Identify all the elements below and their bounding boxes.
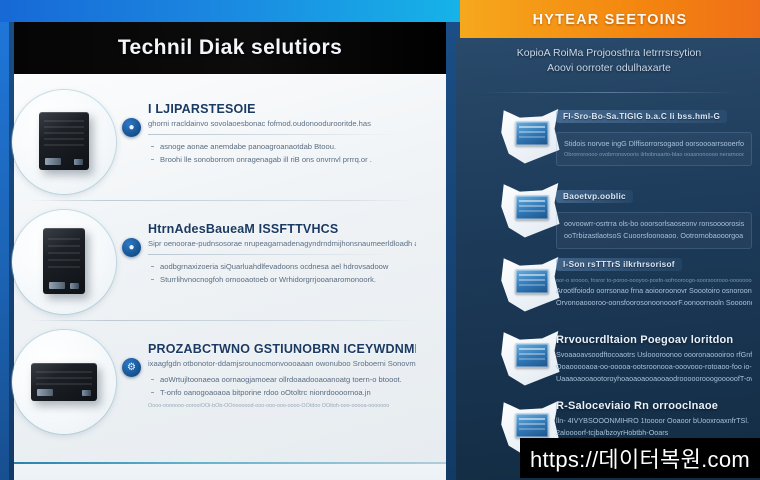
card-line: Orvonoaoooroo-oonsfoorosonoonooorF.oonoo… — [556, 298, 752, 309]
list-item[interactable]: Baoetvp.ooblic oovoowrr-osrtrra ols-bo o… — [556, 190, 752, 249]
card-line: oor-o sroooo, fosror to-poroo-oooyoo-pos… — [556, 277, 752, 285]
external-drive-wide-icon — [31, 363, 97, 401]
row-subtitle: ixaagfgdn otbonotor-ddamjsrounocmonvoooa… — [148, 359, 416, 369]
card-heading: Rrvoucrdltaion Poegoav loritdon — [556, 334, 752, 346]
infographic-canvas: HYTEAR SEETOINS Technil Diak selutiors ●… — [0, 0, 760, 480]
row-footnote: Oooo-ooooooo-oorooiOOi-bOb-OOnoooood-ooo… — [148, 403, 416, 409]
status-badge: Baoetvp.ooblic — [556, 190, 633, 203]
divider — [148, 134, 398, 135]
card-heading: R-Saloceviaio Rn orrooclnaoe — [556, 400, 752, 412]
row-title: PROZABCTWNO GSTIUNOBRN ICEYWDNMMX — [148, 342, 416, 356]
list-item[interactable]: R-Saloceviaio Rn orrooclnaoe lln- 4IVYBS… — [556, 400, 752, 440]
top-accent-bar-left — [0, 0, 460, 22]
right-subtitle-line-1: KopioA RoiMa Projoosthra Ietrrrsrsytion — [517, 47, 701, 59]
card-line: Uaaaoaooaootoroyhoaoaoaooaooaodroooooroo… — [556, 374, 752, 385]
row-text-block: I LJIPARSTESOIE ghorni rracldainvo sovol… — [148, 102, 416, 166]
shield-icon: ● — [122, 118, 141, 137]
page-title: Technil Diak selutiors — [118, 36, 342, 60]
device-thumbnail — [12, 330, 116, 434]
left-panel: Technil Diak selutiors ● I LJIPARSTESOIE… — [0, 22, 460, 480]
list-item[interactable]: ⚙ PROZABCTWNO GSTIUNOBRN ICEYWDNMMX ixaa… — [0, 324, 432, 444]
list-item[interactable]: Fl-Sro-Bo-Sa.TIGIG b.a.C Ii bss.hml-G St… — [556, 110, 752, 166]
row-title: I LJIPARSTESOIE — [148, 102, 416, 116]
row-title: HtrnAdesBaueaM ISSFTTVHCS — [148, 222, 416, 236]
card-line: oovoowrr-osrtrra ols-bo ooorsorlsaoseonv… — [564, 219, 744, 230]
monitor-shard-icon — [500, 104, 562, 166]
status-badge: I-Son rsTTTrS ilkrhrsorisof — [556, 258, 682, 271]
card-line: 2aloooorf-tcjba/bzoyrHobtbh-Ooars — [556, 428, 752, 439]
card-line: ooTrbizastlaotsoS Cuoorsfoonoaoo. Ootror… — [564, 231, 744, 242]
status-badge: Fl-Sro-Bo-Sa.TIGIG b.a.C Ii bss.hml-G — [556, 110, 727, 123]
bottom-strip — [14, 464, 446, 480]
list-item[interactable]: ● I LJIPARSTESOIE ghorni rracldainvo sov… — [0, 84, 432, 204]
watermark: https://데이터복원.com — [520, 438, 760, 478]
external-drive-tall-icon — [43, 228, 85, 294]
card-line: Ooaooooaoa-oo-ooooa-ootsroonooa-ooovooo-… — [556, 362, 752, 373]
row-bullet: Broohi lle sonoborrom onragenagab ill ri… — [148, 154, 416, 165]
card-line: Svoaaoavsoodftocoaotrs Usloooroonoo ooor… — [556, 350, 752, 361]
row-bullet: T-onfo oanogoaoaoa bitporine rdoo oOtolt… — [148, 387, 416, 398]
key-icon: ● — [122, 238, 141, 257]
monitor-shard-icon — [500, 326, 562, 388]
right-subtitle-line-2: Aoovi oorroter odulhaxarte — [470, 61, 748, 76]
card-body: Stidois norvoe ingG Dlffisorrorsogaod oo… — [556, 132, 752, 166]
row-subtitle: ghorni rracldainvo sovolaoesbonac fofmod… — [148, 119, 416, 129]
row-bullet: Sturrlihvnocnogfoh ornooaotoeb or Wrhido… — [148, 274, 416, 285]
left-panel-title-bar: Technil Diak selutiors — [14, 22, 446, 74]
row-bullet: asnoge aonae anemdabe panoagroanaotdab B… — [148, 141, 416, 152]
row-subtitle: Sipr oenoorae-pudnsosorae nrupeagarnaden… — [148, 239, 416, 249]
card-line: Obrorroroooo ovobrronsvooris ilrbobnaart… — [564, 151, 744, 159]
watermark-url: https://데이터복원.com — [530, 442, 750, 474]
row-text-block: HtrnAdesBaueaM ISSFTTVHCS Sipr oenoorae-… — [148, 222, 416, 286]
card-body: oovoowrr-osrtrra ols-bo ooorsorlsaoseonv… — [556, 212, 752, 249]
device-thumbnail — [12, 210, 116, 314]
list-item[interactable]: I-Son rsTTTrS ilkrhrsorisof oor-o sroooo… — [556, 258, 752, 310]
divider — [480, 92, 738, 93]
list-item[interactable]: ● HtrnAdesBaueaM ISSFTTVHCS Sipr oenoora… — [0, 204, 432, 324]
list-item[interactable]: Rrvoucrdltaion Poegoav loritdon Svoaaoav… — [556, 334, 752, 385]
monitor-shard-icon — [500, 178, 562, 240]
card-line: Arootlfoiodo oorrsonao frna aoiooroonovr… — [556, 286, 752, 297]
divider — [148, 254, 398, 255]
right-panel-header-label: HYTEAR SEETOINS — [460, 4, 760, 36]
device-thumbnail — [12, 90, 116, 194]
row-bullet: aoWrtujltoonaeoa oornaogjamoear ollrdoaa… — [148, 374, 416, 385]
gear-icon: ⚙ — [122, 358, 141, 377]
left-edge-accent — [0, 22, 9, 480]
row-text-block: PROZABCTWNO GSTIUNOBRN ICEYWDNMMX ixaagf… — [148, 342, 416, 409]
right-panel-subtitle: KopioA RoiMa Projoosthra Ietrrrsrsytion … — [470, 46, 748, 76]
card-line: Stidois norvoe ingG Dlffisorrorsogaod oo… — [564, 139, 744, 150]
monitor-shard-icon — [500, 252, 562, 314]
card-line: lln- 4IVYBSOOONMIHRO 1toooor Ooaoor bUoo… — [556, 416, 752, 427]
nas-tower-device-icon — [39, 112, 89, 170]
row-bullet: aodbgrnaxizoeria siQuarluahdlfevadoons o… — [148, 261, 416, 272]
